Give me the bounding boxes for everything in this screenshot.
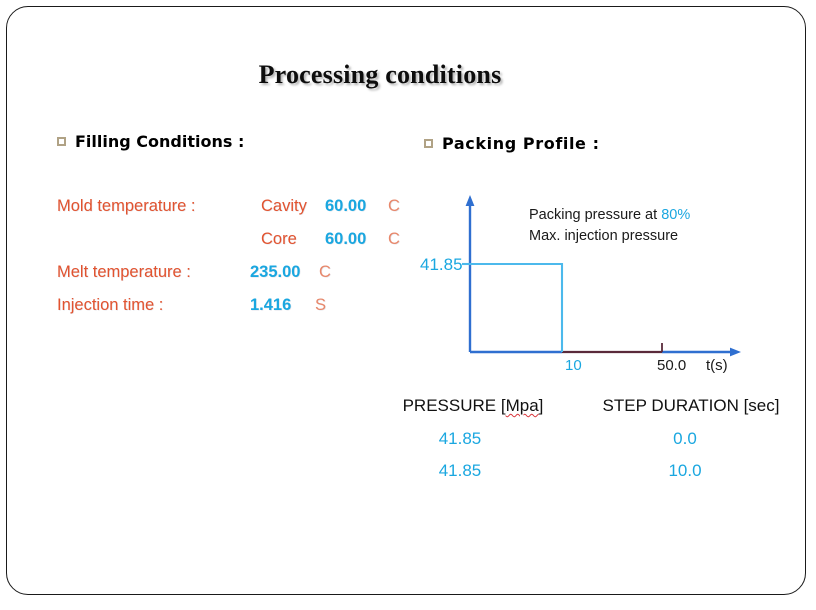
y-axis-arrowhead-icon — [466, 195, 475, 206]
square-bullet-icon — [424, 139, 433, 148]
parameter-label: Mold temperature : — [57, 197, 195, 216]
table-cell-step-duration: 0.0 — [580, 429, 790, 461]
parameter-row-mold-temperature: Mold temperature : Cavity 60.00 C — [57, 197, 417, 219]
square-bullet-icon — [57, 137, 66, 146]
table-cell-pressure: 41.85 — [355, 429, 565, 461]
slide-canvas: Processing conditions Filling Conditions… — [0, 0, 816, 610]
parameter-row-core-temperature: Core 60.00 C — [57, 230, 417, 252]
table-cell-pressure: 41.85 — [355, 461, 565, 493]
parameter-unit: C — [388, 197, 400, 216]
x-axis-title: t(s) — [706, 357, 728, 374]
parameter-unit: C — [388, 230, 400, 249]
parameter-row-injection-time: Injection time : 1.416 S — [57, 296, 417, 318]
parameter-unit: S — [315, 296, 326, 315]
chart-annotation-line-1: Packing pressure at 80% — [529, 206, 690, 225]
x-axis-label-50: 50.0 — [657, 357, 686, 374]
chart-annotation-prefix: Packing pressure at — [529, 207, 661, 223]
parameter-value-core-temperature: 60.00 — [325, 230, 366, 249]
parameter-value-melt-temperature: 235.00 — [250, 263, 300, 282]
section-heading-filling-label: Filling Conditions : — [75, 132, 244, 151]
pressure-step-curve — [470, 264, 562, 352]
table-header-pressure-unit: Mpa — [506, 396, 539, 415]
table-row: 41.85 0.0 — [360, 429, 780, 461]
parameter-value-cavity-temperature: 60.00 — [325, 197, 366, 216]
parameter-label: Injection time : — [57, 296, 163, 315]
parameter-sublabel-cavity: Cavity — [261, 197, 307, 216]
parameter-label: Melt temperature : — [57, 263, 191, 282]
parameter-unit: C — [319, 263, 331, 282]
table-header-row: PRESSURE [Mpa] STEP DURATION [sec] — [360, 396, 780, 429]
y-axis-label-41-85: 41.85 — [420, 255, 463, 275]
table-row: 41.85 10.0 — [360, 461, 780, 493]
table-header-step-duration: STEP DURATION [sec] — [586, 396, 796, 429]
x-axis-label-10: 10 — [565, 357, 582, 374]
chart-annotation-highlight: 80% — [661, 207, 690, 223]
parameter-row-melt-temperature: Melt temperature : 235.00 C — [57, 263, 417, 285]
section-heading-packing-profile: Packing Profile : — [424, 134, 600, 153]
parameter-value-injection-time: 1.416 — [250, 296, 291, 315]
page-title: Processing conditions — [0, 60, 760, 90]
section-heading-filling-conditions: Filling Conditions : — [57, 132, 244, 151]
parameter-sublabel-core: Core — [261, 230, 297, 249]
packing-profile-table: PRESSURE [Mpa] STEP DURATION [sec] 41.85… — [360, 396, 780, 493]
table-cell-step-duration: 10.0 — [580, 461, 790, 493]
chart-annotation-line-2: Max. injection pressure — [529, 227, 678, 246]
x-axis-arrowhead-icon — [730, 348, 741, 357]
table-header-pressure: PRESSURE [Mpa] — [368, 396, 578, 429]
section-heading-packing-label: Packing Profile : — [442, 134, 600, 153]
table-header-pressure-text: PRESSURE [ — [403, 396, 506, 415]
table-header-pressure-tail: ] — [539, 396, 544, 415]
